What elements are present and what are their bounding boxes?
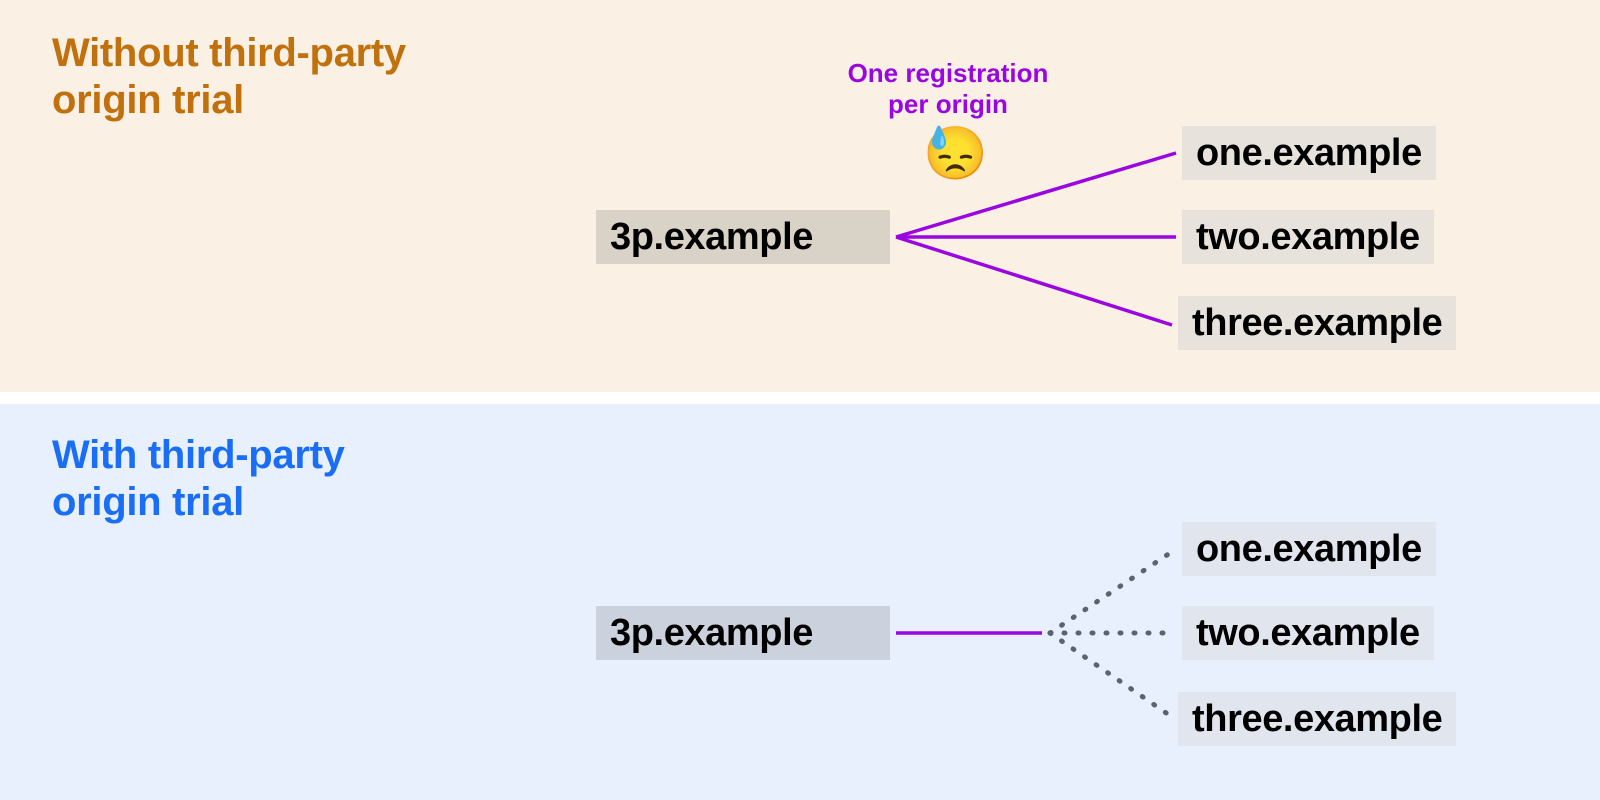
- connector-line-to-three: [896, 237, 1172, 325]
- target-origin-box-three[interactable]: three.example: [1178, 692, 1456, 746]
- target-origin-box-one[interactable]: one.example: [1182, 522, 1436, 576]
- downcast-face-with-sweat-emoji: 😓: [923, 128, 988, 180]
- panel-with-origin-trial: With third-party origin trial One regist…: [0, 404, 1600, 800]
- target-origin-box-two[interactable]: two.example: [1182, 210, 1434, 264]
- source-origin-box[interactable]: 3p.example: [596, 210, 890, 264]
- panel-heading-with: With third-party origin trial: [52, 432, 345, 526]
- panel-heading-without: Without third-party origin trial: [52, 30, 406, 124]
- target-origin-box-two[interactable]: two.example: [1182, 606, 1434, 660]
- source-origin-box[interactable]: 3p.example: [596, 606, 890, 660]
- connector-dotted-line-to-three: [1050, 633, 1172, 717]
- target-origin-box-one[interactable]: one.example: [1182, 126, 1436, 180]
- connector-dotted-line-to-one: [1050, 549, 1176, 633]
- annotation-one-registration-per-origin: One registration per origin: [793, 58, 1103, 120]
- panel-without-origin-trial: Without third-party origin trial One reg…: [0, 0, 1600, 392]
- target-origin-box-three[interactable]: three.example: [1178, 296, 1456, 350]
